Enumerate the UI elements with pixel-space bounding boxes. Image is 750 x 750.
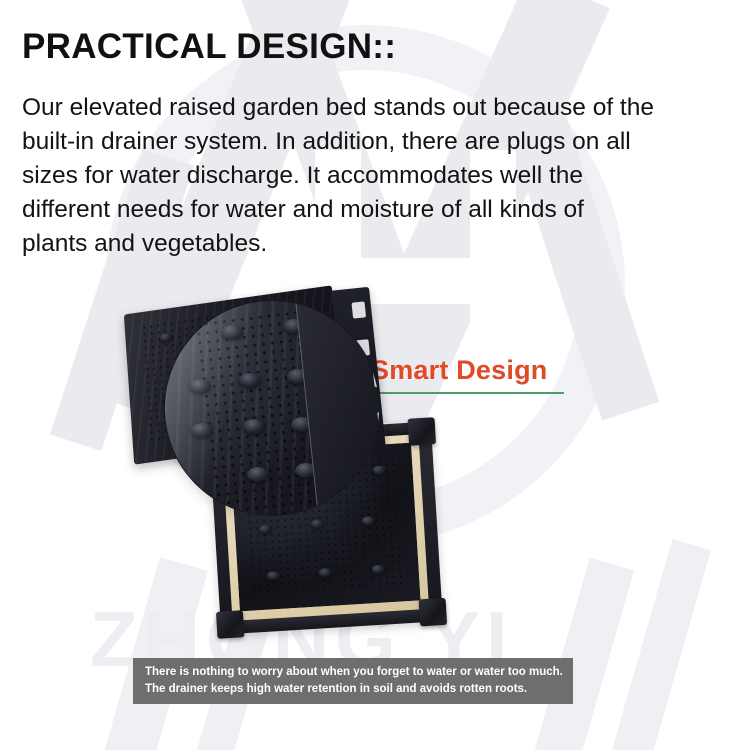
bed-corner-bracket xyxy=(419,598,448,627)
body-line: plants and vegetables. xyxy=(22,227,750,261)
panel-slot xyxy=(373,369,380,387)
caption-bar: There is nothing to worry about when you… xyxy=(133,658,573,704)
body-copy: Our elevated raised garden bed stands ou… xyxy=(22,91,750,261)
page-content: PRACTICAL DESIGN:: Our elevated raised g… xyxy=(0,0,750,750)
caption-line: There is nothing to worry about when you… xyxy=(145,664,561,681)
body-line: Our elevated raised garden bed stands ou… xyxy=(22,91,750,125)
body-line: different needs for water and moisture o… xyxy=(22,193,750,227)
bed-corner-bracket xyxy=(407,417,436,446)
drain-plug xyxy=(239,373,261,388)
caption-line: The drainer keeps high water retention i… xyxy=(145,681,561,698)
body-line: built-in drainer system. In addition, th… xyxy=(22,125,750,159)
panel-slot xyxy=(368,328,379,346)
magnifier-inset xyxy=(164,300,380,516)
drain-plug xyxy=(243,419,265,434)
product-figure xyxy=(120,288,640,658)
page-title: PRACTICAL DESIGN:: xyxy=(22,27,396,67)
bed-corner-bracket xyxy=(216,610,245,639)
drain-plug xyxy=(247,467,269,482)
body-line: sizes for water discharge. It accommodat… xyxy=(22,159,750,193)
drain-plug xyxy=(258,524,272,534)
